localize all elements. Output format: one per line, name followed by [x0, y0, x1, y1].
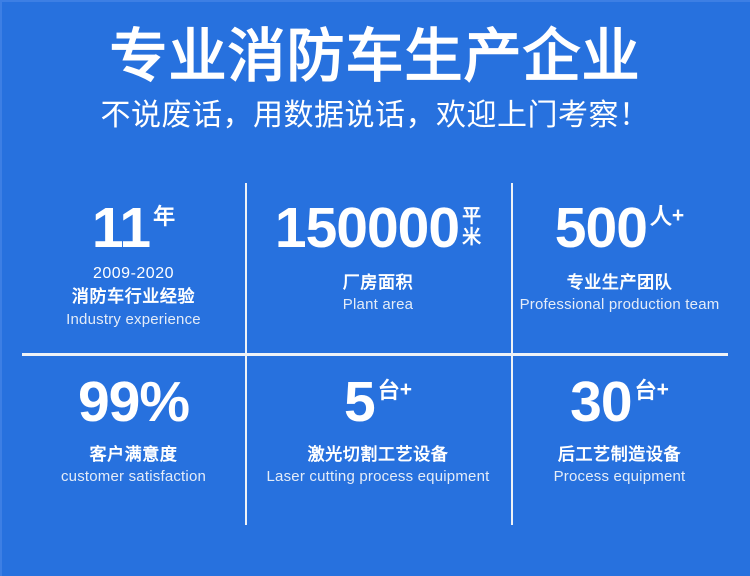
stat-value: 5 [344, 375, 375, 430]
stat-unit-text: 年 [153, 205, 175, 228]
stat-unit-line-2: 米 [462, 227, 481, 248]
stat-number-row: 99% [78, 375, 189, 430]
stat-unit-plus: + [672, 205, 684, 227]
stat-number-row: 5 台 + [344, 375, 412, 430]
stat-unit-line-1: 平 [462, 206, 481, 227]
stat-unit: 人 + [647, 201, 684, 228]
stat-cell-plant-area: 150000 平 米 厂房面积 Plant area [245, 183, 511, 354]
stat-unit-plus: + [400, 379, 412, 401]
stat-year-range: 2009-2020 [93, 265, 174, 283]
stat-unit: 平 米 [459, 201, 481, 249]
stat-label-cn: 后工艺制造设备 [558, 444, 681, 465]
stat-label-en: Plant area [343, 296, 413, 315]
stat-number-row: 500 人 + [555, 201, 684, 256]
stat-value: 99% [78, 375, 189, 430]
stat-unit-plus: + [657, 379, 669, 401]
stats-grid: 11 年 2009-2020 消防车行业经验 Industry experien… [22, 183, 728, 525]
stat-label-en: Process equipment [554, 468, 686, 487]
stat-number-row: 11 年 [92, 201, 175, 256]
stat-cell-laser-cutting-equipment: 5 台 + 激光切割工艺设备 Laser cutting process equ… [245, 354, 511, 525]
page-title: 专业消防车生产企业 [0, 0, 750, 86]
stat-unit: 年 [150, 201, 175, 228]
stat-label-cn: 消防车行业经验 [72, 286, 195, 307]
stat-label-en: Laser cutting process equipment [267, 468, 490, 487]
stat-value: 150000 [275, 201, 459, 256]
stat-unit-text: 台 [635, 379, 657, 402]
stat-label-cn: 客户满意度 [90, 444, 178, 465]
stat-label-cn: 激光切割工艺设备 [308, 444, 449, 465]
stat-value: 500 [555, 201, 647, 256]
promo-banner: 专业消防车生产企业 不说废话，用数据说话，欢迎上门考察！ 11 年 2009-2… [0, 0, 750, 576]
stat-label-en: Professional production team [520, 296, 720, 315]
stat-label-cn: 专业生产团队 [567, 272, 673, 293]
stat-label-en: Industry experience [66, 311, 201, 330]
stat-cell-process-equipment: 30 台 + 后工艺制造设备 Process equipment [511, 354, 728, 525]
stat-unit: 台 + [375, 375, 412, 402]
stat-unit: 台 + [632, 375, 669, 402]
stat-cell-industry-experience: 11 年 2009-2020 消防车行业经验 Industry experien… [22, 183, 245, 354]
stat-value: 30 [570, 375, 631, 430]
stat-cell-customer-satisfaction: 99% 客户满意度 customer satisfaction [22, 354, 245, 525]
stat-label-en: customer satisfaction [61, 468, 206, 487]
stat-unit-text: 人 [650, 205, 672, 228]
stat-cell-production-team: 500 人 + 专业生产团队 Professional production t… [511, 183, 728, 354]
stat-number-row: 150000 平 米 [275, 201, 481, 256]
page-subtitle: 不说废话，用数据说话，欢迎上门考察！ [0, 86, 750, 132]
stat-number-row: 30 台 + [570, 375, 669, 430]
banner-header: 专业消防车生产企业 不说废话，用数据说话，欢迎上门考察！ [0, 0, 750, 132]
stat-value: 11 [92, 201, 150, 256]
stat-label-cn: 厂房面积 [343, 272, 413, 293]
stat-unit-text: 台 [378, 379, 400, 402]
